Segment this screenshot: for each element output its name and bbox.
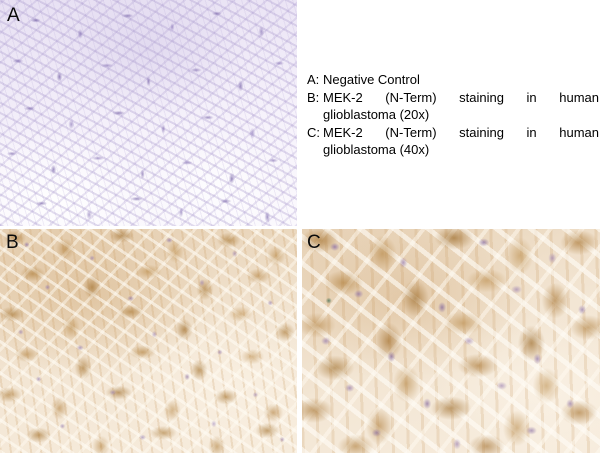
legend-text-b-continuation: glioblastoma (20x) [323,106,599,124]
legend-line-b: B: MEK-2 (N-Term) staining in human glio… [307,89,599,124]
legend-text-a: Negative Control [323,71,599,89]
panel-label-a: A [7,6,20,25]
legend-key-b: B: [307,89,323,107]
panel-a-negative-control[interactable]: A [0,0,297,226]
micrograph-image-c [302,229,600,453]
panel-label-b: B [6,233,19,252]
legend-key-a: A: [307,71,323,89]
panel-label-c: C [307,233,321,252]
legend-line-a: A: Negative Control [307,71,599,89]
legend-line-c: C: MEK-2 (N-Term) staining in human glio… [307,124,599,159]
ihc-figure: A B C A: Negative Control B: MEK-2 (N-Te… [0,0,600,453]
legend-body-a: Negative Control [323,71,599,89]
panel-b-mek2-20x[interactable]: B [0,229,297,453]
panel-c-mek2-40x[interactable]: C [302,229,600,453]
figure-legend: A: Negative Control B: MEK-2 (N-Term) st… [307,71,599,159]
legend-key-c: C: [307,124,323,142]
micrograph-image-a [0,0,297,226]
legend-body-b: MEK-2 (N-Term) staining in human gliobla… [323,89,599,124]
micrograph-image-b [0,229,297,453]
legend-text-b: MEK-2 (N-Term) staining in human [323,89,599,107]
legend-text-c: MEK-2 (N-Term) staining in human [323,124,599,142]
legend-body-c: MEK-2 (N-Term) staining in human gliobla… [323,124,599,159]
legend-text-c-continuation: glioblastoma (40x) [323,141,599,159]
